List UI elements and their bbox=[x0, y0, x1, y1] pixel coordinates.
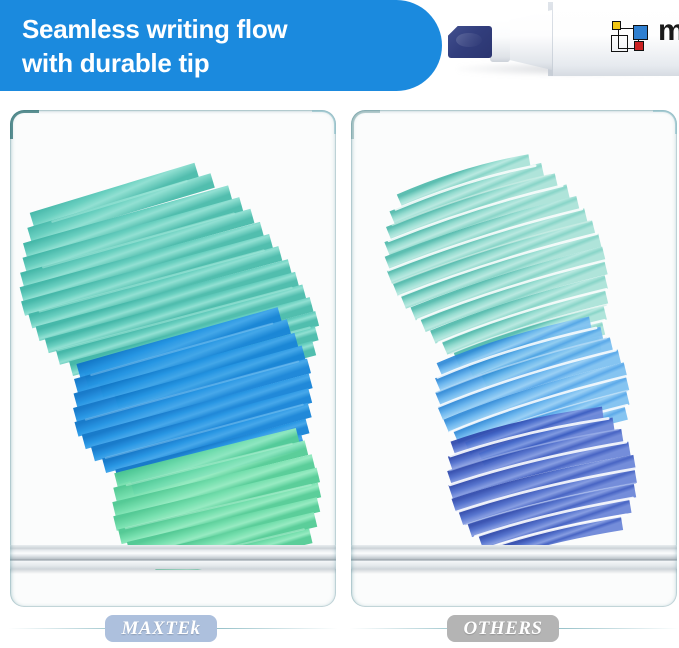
whiteboard-tray bbox=[351, 545, 677, 573]
brand-wordmark: m bbox=[658, 16, 679, 46]
tray-shadow bbox=[351, 569, 677, 574]
tray-face bbox=[351, 548, 677, 559]
marker-collar bbox=[490, 20, 510, 62]
logo-yellow-square bbox=[612, 21, 621, 30]
headline-line-2: with durable tip bbox=[22, 46, 382, 80]
brand-label-others-text: OTHERS bbox=[463, 618, 542, 640]
headline-line-1: Seamless writing flow bbox=[22, 12, 382, 46]
stroke-group-others bbox=[351, 110, 677, 570]
tray-lower-face bbox=[10, 561, 336, 569]
brand-logo-icon bbox=[610, 20, 652, 54]
brand-label-maxtek: MAXTEk bbox=[105, 615, 217, 642]
headline-text: Seamless writing flow with durable tip bbox=[22, 12, 382, 81]
panel-corner-accent bbox=[351, 110, 380, 139]
tray-shadow bbox=[10, 569, 336, 574]
marker-cone bbox=[506, 10, 552, 70]
stroke-group-maxtek bbox=[10, 110, 336, 570]
comparison-panel-others bbox=[351, 110, 677, 607]
logo-blue-square bbox=[633, 25, 648, 40]
comparison-panel-maxtek bbox=[10, 110, 336, 607]
marker-chisel-tip bbox=[448, 26, 492, 58]
brand-label-others: OTHERS bbox=[447, 615, 559, 642]
logo-red-square bbox=[634, 41, 644, 51]
tray-face bbox=[10, 548, 336, 559]
headline-banner: Seamless writing flow with durable tip bbox=[0, 0, 442, 91]
tray-lower-face bbox=[351, 561, 677, 569]
logo-outline-square-small bbox=[611, 35, 628, 52]
whiteboard-tray bbox=[10, 545, 336, 573]
brand-label-maxtek-text: MAXTEk bbox=[121, 618, 200, 640]
marker-illustration: m bbox=[440, 0, 679, 96]
panel-corner-accent bbox=[10, 110, 39, 139]
